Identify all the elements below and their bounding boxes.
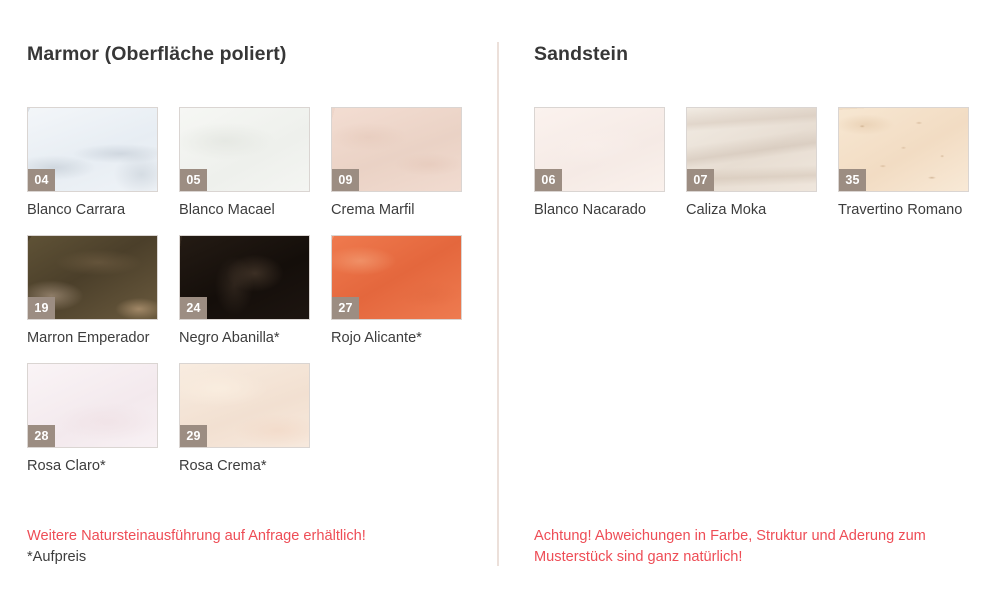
swatch-row: 28 Rosa Claro* 29 Rosa Crema* [27,363,482,475]
swatch-grid-sandstein: 06 Blanco Nacarado 07 Caliza Moka 35 [534,107,989,235]
swatch-label: Rosa Crema* [179,457,310,475]
swatch-code-badge: 35 [839,169,866,191]
swatch-label: Crema Marfil [331,201,462,219]
swatch-code-badge: 24 [180,297,207,319]
swatch-cell[interactable]: 06 Blanco Nacarado [534,107,665,219]
swatch-tile[interactable]: 24 [179,235,310,320]
note-marmor-surcharge: *Aufpreis [27,547,477,568]
swatch-label: Negro Abanilla* [179,329,310,347]
swatch-cell[interactable]: 04 Blanco Carrara [27,107,158,219]
swatch-label: Rosa Claro* [27,457,158,475]
swatch-cell[interactable]: 05 Blanco Macael [179,107,310,219]
swatch-cell[interactable]: 07 Caliza Moka [686,107,817,219]
swatch-code-badge: 05 [180,169,207,191]
swatch-cell[interactable]: 19 Marron Emperador [27,235,158,347]
swatch-label: Blanco Carrara [27,201,158,219]
swatch-row: 04 Blanco Carrara 05 Blanco Macael 09 [27,107,482,219]
swatch-tile[interactable]: 27 [331,235,462,320]
swatch-tile[interactable]: 05 [179,107,310,192]
swatch-row: 19 Marron Emperador 24 Negro Abanilla* 2… [27,235,482,347]
swatch-cell[interactable]: 28 Rosa Claro* [27,363,158,475]
column-divider [497,42,499,566]
material-sample-board: Marmor (Oberfläche poliert) 04 Blanco Ca… [0,0,1000,613]
swatch-tile[interactable]: 19 [27,235,158,320]
swatch-tile[interactable]: 04 [27,107,158,192]
swatch-tile[interactable]: 29 [179,363,310,448]
swatch-code-badge: 09 [332,169,359,191]
note-marmor-availability: Weitere Natursteinausführung auf Anfrage… [27,526,477,547]
swatch-row: 06 Blanco Nacarado 07 Caliza Moka 35 [534,107,989,219]
swatch-cell[interactable]: 35 Travertino Romano [838,107,969,219]
swatch-label: Blanco Macael [179,201,310,219]
swatch-cell[interactable]: 27 Rojo Alicante* [331,235,462,347]
swatch-code-badge: 04 [28,169,55,191]
swatch-cell[interactable]: 24 Negro Abanilla* [179,235,310,347]
swatch-label: Blanco Nacarado [534,201,665,219]
swatch-tile[interactable]: 35 [838,107,969,192]
swatch-tile[interactable]: 28 [27,363,158,448]
swatch-label: Marron Emperador [27,329,158,347]
swatch-tile[interactable]: 09 [331,107,462,192]
swatch-code-badge: 07 [687,169,714,191]
swatch-code-badge: 19 [28,297,55,319]
swatch-cell[interactable]: 09 Crema Marfil [331,107,462,219]
swatch-label: Rojo Alicante* [331,329,462,347]
swatch-label: Caliza Moka [686,201,817,219]
swatch-tile[interactable]: 07 [686,107,817,192]
swatch-code-badge: 27 [332,297,359,319]
swatch-code-badge: 29 [180,425,207,447]
swatch-grid-marmor: 04 Blanco Carrara 05 Blanco Macael 09 [27,107,482,492]
note-sandstein-warning: Achtung! Abweichungen in Farbe, Struktur… [534,526,989,568]
swatch-code-badge: 28 [28,425,55,447]
swatch-label: Travertino Romano [838,201,969,219]
swatch-tile[interactable]: 06 [534,107,665,192]
section-title-marmor: Marmor (Oberfläche poliert) [27,43,287,66]
section-title-sandstein: Sandstein [534,43,628,66]
swatch-code-badge: 06 [535,169,562,191]
swatch-cell[interactable]: 29 Rosa Crema* [179,363,310,475]
